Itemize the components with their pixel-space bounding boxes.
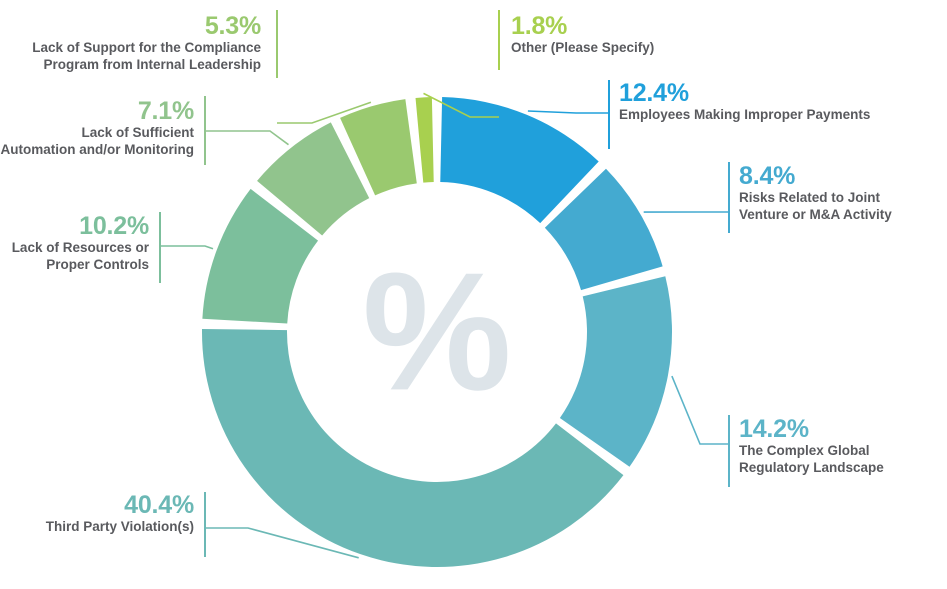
callout-label-line2: Program from Internal Leadership: [22, 57, 261, 74]
callout-employees-improper-payments: 12.4% Employees Making Improper Payments: [608, 80, 878, 124]
callout-percent: 14.2%: [739, 416, 928, 443]
callout-percent: 5.3%: [22, 13, 261, 40]
callout-label-line1: Third Party Violation(s): [30, 519, 194, 536]
callout-label-line1: Employees Making Improper Payments: [619, 107, 878, 124]
callout-label-line1: Other (Please Specify): [511, 40, 750, 57]
callout-third-party-violations: 40.4% Third Party Violation(s): [30, 492, 205, 536]
leader-line-lack-of-support-compliance-program: [277, 10, 371, 123]
callout-label-line1: The Complex Global: [739, 443, 928, 460]
callout-percent: 10.2%: [0, 213, 149, 240]
callout-lack-of-sufficient-automation-monitoring: 7.1% Lack of Sufficient Automation and/o…: [0, 98, 205, 158]
leader-line-joint-venture-ma-risk: [644, 162, 729, 233]
callout-complex-global-regulatory-landscape: 14.2% The Complex Global Regulatory Land…: [728, 416, 928, 476]
leader-line-complex-global-regulatory-landscape: [672, 376, 729, 487]
callout-percent: 12.4%: [619, 80, 878, 107]
callout-label-line2: Automation and/or Monitoring: [0, 142, 194, 159]
callout-lack-of-support-compliance-program: 5.3% Lack of Support for the Compliance …: [22, 13, 272, 73]
leader-line-lack-of-sufficient-automation-monitoring: [205, 96, 289, 165]
callout-percent: 40.4%: [30, 492, 194, 519]
leader-line-lack-of-resources-or-proper-controls: [160, 212, 213, 283]
center-percent-symbol: %: [362, 237, 511, 425]
callout-label-line1: Lack of Support for the Compliance: [22, 40, 261, 57]
callout-label-line2: Proper Controls: [0, 257, 149, 274]
callout-lack-of-resources-or-proper-controls: 10.2% Lack of Resources or Proper Contro…: [0, 213, 160, 273]
callout-label-line1: Lack of Resources or: [0, 240, 149, 257]
donut-chart-infographic: % 5.3% Lack of Support for the Complianc…: [0, 0, 947, 589]
callout-percent: 7.1%: [0, 98, 194, 125]
callout-label-line1: Lack of Sufficient: [0, 125, 194, 142]
callout-label-line2: Regulatory Landscape: [739, 460, 928, 477]
donut-slice-complex-global-regulatory-landscape[interactable]: [560, 276, 672, 467]
donut-slice-other-please-specify[interactable]: [416, 97, 434, 183]
callout-percent: 1.8%: [511, 13, 750, 40]
callout-joint-venture-ma-risk: 8.4% Risks Related to Joint Venture or M…: [728, 163, 928, 223]
callout-label-line2: Venture or M&A Activity: [739, 207, 928, 224]
callout-percent: 8.4%: [739, 163, 928, 190]
callout-label-line1: Risks Related to Joint: [739, 190, 928, 207]
callout-other-please-specify: 1.8% Other (Please Specify): [500, 13, 750, 57]
